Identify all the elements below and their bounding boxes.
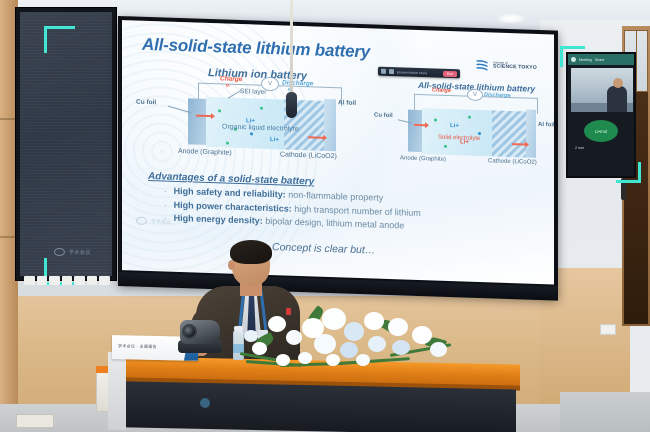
video-feed-participant <box>607 86 627 112</box>
particle-dot <box>250 132 253 135</box>
science-tokyo-logo: Institute of SCIENCE TOKYO <box>474 58 537 74</box>
science-tokyo-logo-icon <box>474 58 490 73</box>
left-electron-charge: e- <box>226 83 230 89</box>
logo-line-2: TOKYO <box>518 64 537 71</box>
left-sei-layer-label: SEI layer <box>240 88 266 96</box>
right-li-ion-top: Li+ <box>450 123 459 129</box>
video-panel-badge-text: Li•mol <box>595 129 607 134</box>
video-user-icon <box>571 57 576 62</box>
video-panel-titlebar: Meeting Share <box>568 54 634 65</box>
advantages-list: · High safety and reliability: non-flamm… <box>164 186 421 235</box>
white-rose <box>298 352 312 364</box>
slide-watermark-icon <box>136 217 147 225</box>
video-conference-panel[interactable]: Meeting Share Li•mol 2 mm <box>566 52 636 178</box>
bullet-marker: · <box>164 201 167 209</box>
toolbar-label: presentation tools <box>397 70 427 75</box>
desk-sign-text: 学术会议 · 主题报告 <box>118 343 157 350</box>
slide-watermark: 学术会议 <box>136 217 171 226</box>
bullet-rest: bipolar design, lithium metal anode <box>263 216 405 231</box>
left-al-foil-block <box>324 99 336 151</box>
video-panel-scale-text: 2 mm <box>575 146 584 150</box>
right-electrolyte-region <box>422 108 492 156</box>
video-feed[interactable] <box>571 68 633 112</box>
right-ion-arrow <box>414 124 426 126</box>
right-charge-label: Charge <box>432 87 451 94</box>
left-li-ion-mid: Li+ <box>270 137 279 143</box>
left-anode-block <box>188 98 206 145</box>
control-key[interactable] <box>99 276 110 285</box>
presentation-room-photo: 学术会议 All-solid-state lithium battery Lit… <box>0 0 650 432</box>
video-panel-badge: Li•mol <box>584 120 618 142</box>
podium-side-pillar <box>108 352 126 430</box>
control-key[interactable] <box>74 276 85 285</box>
bullet-marker: · <box>164 188 167 196</box>
particle-dot <box>444 145 447 148</box>
watermark-logo-icon <box>54 248 65 256</box>
white-rose <box>276 354 290 366</box>
right-cathode-label: Cathode (LiCoO2) <box>488 158 537 167</box>
control-key[interactable] <box>24 276 35 285</box>
fern-leaf <box>340 357 410 365</box>
blue-hydrangea <box>340 342 358 358</box>
projection-screen[interactable]: All-solid-state lithium battery Lithium … <box>118 16 558 299</box>
wall-outlet[interactable] <box>600 324 616 335</box>
control-key[interactable] <box>87 276 98 285</box>
left-discharge-label: Discharge <box>282 79 313 87</box>
white-flower <box>368 336 386 352</box>
side-display-watermark: 学术会议 <box>54 248 91 256</box>
control-key[interactable] <box>49 276 60 285</box>
left-charge-label: Charge <box>220 75 242 83</box>
video-panel-title: Meeting <box>579 58 592 62</box>
slide-watermark-text: 学术会议 <box>151 218 171 226</box>
white-rose <box>356 354 370 366</box>
white-lily <box>314 334 336 354</box>
particle-dot <box>478 132 481 135</box>
right-cathode-arrow <box>512 143 526 145</box>
white-rose <box>326 354 340 366</box>
white-lily <box>322 308 346 330</box>
bullet-rest: high transport number of lithium <box>292 203 421 217</box>
right-electrolyte-label: Solid electrolyte <box>438 135 480 143</box>
white-rose <box>244 330 258 342</box>
toolbar-mic-icon[interactable] <box>389 69 394 74</box>
presenter-hair <box>230 240 272 264</box>
blue-hydrangea <box>392 340 410 355</box>
white-flower <box>430 342 447 357</box>
blue-hydrangea <box>344 322 364 341</box>
ptz-camera-lens-icon <box>182 324 197 339</box>
right-voltmeter-icon: V <box>467 89 483 102</box>
toolbar-menu-icon[interactable] <box>381 69 386 74</box>
bullet-bold: High power characteristics: <box>174 199 292 213</box>
particle-dot <box>260 107 263 110</box>
floor-right <box>560 392 650 432</box>
side-display[interactable]: 学术会议 <box>16 8 116 280</box>
right-al-foil-block <box>526 110 536 158</box>
flower-arrangement <box>240 296 460 372</box>
side-display-corner-top-left <box>44 26 75 53</box>
control-key[interactable] <box>37 276 48 285</box>
science-tokyo-logo-text: Institute of SCIENCE TOKYO <box>493 61 537 71</box>
floor-outlet[interactable] <box>16 414 54 428</box>
white-flower <box>268 316 286 332</box>
particle-dot <box>218 109 221 112</box>
ceiling-microphone <box>286 92 297 118</box>
white-flower <box>286 330 302 345</box>
ceiling-microphone-cable <box>290 0 293 96</box>
right-cu-foil-label: Cu foil <box>374 112 393 119</box>
particle-dot <box>468 116 471 119</box>
particle-dot <box>434 118 437 121</box>
right-anode-block <box>408 110 422 152</box>
white-flower <box>388 318 408 336</box>
toolbar-end-button[interactable]: End <box>443 70 457 76</box>
side-display-control-strip[interactable] <box>24 276 110 285</box>
side-display-watermark-text: 学术会议 <box>69 249 91 256</box>
video-panel-subtitle: Share <box>595 58 605 62</box>
white-flower <box>412 326 432 344</box>
video-feed-participant-head <box>613 78 623 88</box>
ceiling-downlight <box>498 14 524 23</box>
right-cathode-block <box>492 110 526 157</box>
bullet-bold: High energy density: <box>174 213 263 226</box>
podium-front-panel <box>112 381 516 432</box>
left-al-foil-label: Al foil <box>338 99 356 107</box>
presenter-ear <box>228 260 235 270</box>
right-al-foil-label: Al foil <box>538 122 554 129</box>
logo-line-1: SCIENCE <box>493 63 517 70</box>
control-key[interactable] <box>62 276 73 285</box>
bullet-rest: non-flammable property <box>286 190 384 203</box>
slide-surface: All-solid-state lithium battery Lithium … <box>122 20 554 284</box>
right-discharge-label: Discharge <box>484 92 511 99</box>
left-cu-foil-label: Cu foil <box>136 99 156 107</box>
particle-dot <box>226 142 229 145</box>
white-flower <box>252 342 267 355</box>
podium-emblem-icon <box>200 398 210 408</box>
white-flower <box>364 312 384 330</box>
right-anode-label: Anode (Graphite) <box>400 155 446 163</box>
